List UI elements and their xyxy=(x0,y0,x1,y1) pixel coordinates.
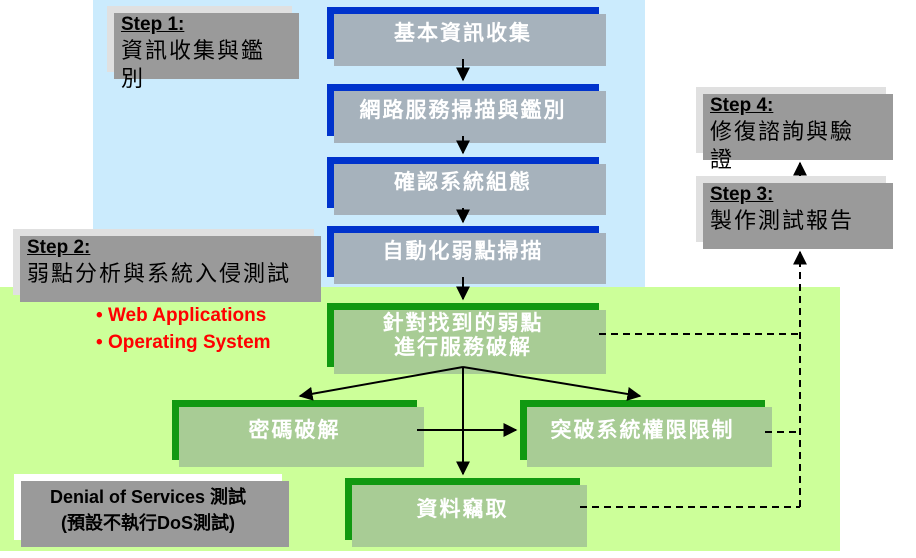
dos-note-line-2: (預設不執行DoS測試) xyxy=(28,510,268,536)
node-label: 確認系統組態 xyxy=(394,170,532,194)
step-4-subtitle: 修復諮詢與驗證 xyxy=(710,119,874,176)
node-service-exploitation[interactable]: 針對找到的弱點 進行服務破解 xyxy=(327,303,599,367)
bullet-operating-system: Operating System xyxy=(96,330,271,357)
dos-test-note: Denial of Services 測試 (預設不執行DoS測試) xyxy=(14,474,282,540)
step-2-caption[interactable]: Step 2: 弱點分析與系統入侵測試 xyxy=(13,229,314,295)
node-label: 自動化弱點掃描 xyxy=(383,239,544,263)
node-network-service-scan[interactable]: 網路服務掃描與鑑別 xyxy=(327,84,599,136)
step-1-title: Step 1: xyxy=(121,13,280,37)
diagram-canvas: 基本資訊收集 網路服務掃描與鑑別 確認系統組態 自動化弱點掃描 針對找到的弱點 … xyxy=(0,0,916,558)
node-automated-vuln-scan[interactable]: 自動化弱點掃描 xyxy=(327,226,599,277)
step-1-caption[interactable]: Step 1: 資訊收集與鑑別 xyxy=(107,6,292,72)
node-label-line-1: 針對找到的弱點 xyxy=(383,311,544,335)
step-3-caption[interactable]: Step 3: 製作測試報告 xyxy=(696,176,886,242)
step-2-bullet-list: Web Applications Operating System xyxy=(96,303,271,356)
node-label: 網路服務掃描與鑑別 xyxy=(360,98,567,122)
node-label: 資料竊取 xyxy=(417,497,509,521)
node-password-cracking[interactable]: 密碼破解 xyxy=(172,400,417,460)
step-2-title: Step 2: xyxy=(27,236,302,260)
step-3-title: Step 3: xyxy=(710,183,874,207)
step-4-caption[interactable]: Step 4: 修復諮詢與驗證 xyxy=(696,87,886,153)
node-label: 密碼破解 xyxy=(249,418,341,442)
step-3-subtitle: 製作測試報告 xyxy=(710,208,874,237)
step-1-subtitle: 資訊收集與鑑別 xyxy=(121,38,280,95)
dos-note-line-1: Denial of Services 測試 xyxy=(28,484,268,510)
node-privilege-escalation[interactable]: 突破系統權限限制 xyxy=(520,400,765,460)
step-4-title: Step 4: xyxy=(710,94,874,118)
node-label: 突破系統權限限制 xyxy=(551,418,735,442)
step-2-subtitle: 弱點分析與系統入侵測試 xyxy=(27,261,302,290)
bullet-web-applications: Web Applications xyxy=(96,303,271,330)
node-basic-info-collection[interactable]: 基本資訊收集 xyxy=(327,7,599,59)
node-label-line-2: 進行服務破解 xyxy=(394,335,532,359)
node-label: 基本資訊收集 xyxy=(394,21,532,45)
node-confirm-system-config[interactable]: 確認系統組態 xyxy=(327,157,599,208)
node-data-exfiltration[interactable]: 資料竊取 xyxy=(345,478,580,540)
